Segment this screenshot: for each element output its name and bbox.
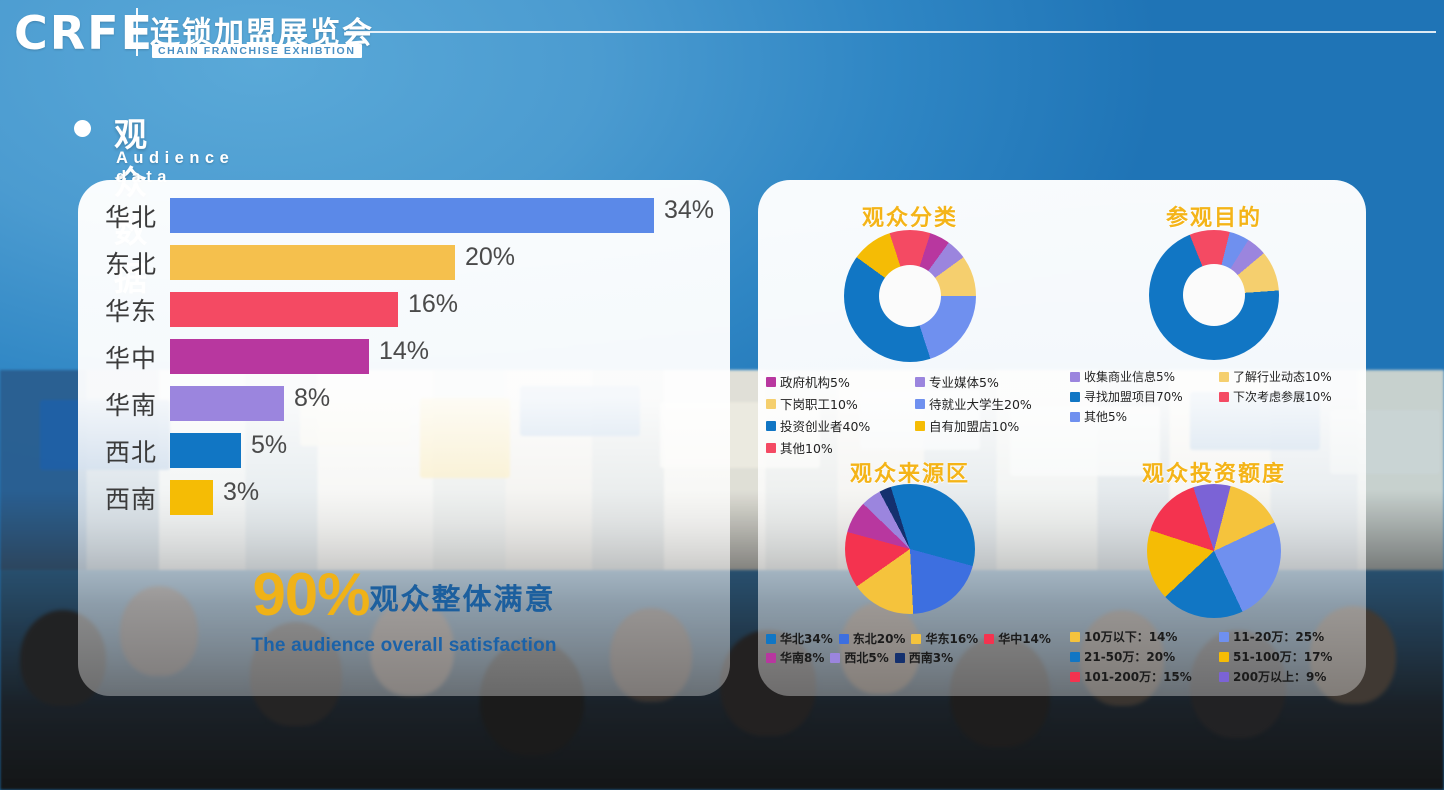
logo-divider [136,8,138,56]
bar-fill [170,480,213,515]
bar-fill [170,292,398,327]
bar-category-label: 华东 [92,292,170,328]
legend-label: 待就业大学生20% [929,394,1032,413]
bar-value-label: 16% [408,290,458,319]
donut-hole [879,265,941,327]
satisfaction-line: 90%观众整体满意 [78,560,730,629]
donut-ring-wrap [1147,484,1281,618]
legend-swatch-icon [984,634,994,644]
legend-label: 了解行业动态10% [1233,368,1332,385]
legend-item: 专业媒体5% [915,372,1058,391]
legend-swatch-icon [766,653,776,663]
legend-item: 自有加盟店10% [915,416,1058,435]
legend-swatch-icon [895,653,905,663]
legend-swatch-icon [911,634,921,644]
legend-item: 华中14% [984,630,1051,647]
legend-swatch-icon [1070,392,1080,402]
legend-item: 华南8% [766,649,824,666]
bar-category-label: 西北 [92,433,170,469]
bar-category-label: 华中 [92,339,170,375]
bar-category-label: 东北 [92,245,170,281]
donut-hole [1183,264,1245,326]
legend-label: 华南8% [780,649,824,666]
legend-label: 专业媒体5% [929,372,999,391]
legend-label: 200万以上：9% [1233,668,1326,685]
bar-value-label: 14% [379,337,429,366]
legend-item: 华北34% [766,630,833,647]
legend-label: 收集商业信息5% [1084,368,1175,385]
donut-legend: 10万以下：14%11-20万：25%21-50万：20%51-100万：17%… [1070,628,1362,685]
donut-legend: 华北34%东北20%华东16%华中14%华南8%西北5%西南3% [766,630,1058,666]
legend-item: 投资创业者40% [766,416,909,435]
bar-category-label: 西南 [92,480,170,516]
legend-label: 政府机构5% [780,372,850,391]
bar-fill [170,433,241,468]
bar-row: 东北20% [78,241,730,287]
legend-swatch-icon [1219,372,1229,382]
donut-title: 观众分类 [758,200,1062,232]
legend-item: 华东16% [911,630,978,647]
legend-label: 华北34% [780,630,833,647]
donut-chart-audience-category: 观众分类政府机构5%专业媒体5%下岗职工10%待就业大学生20%投资创业者40%… [758,186,1062,444]
legend-swatch-icon [1070,412,1080,422]
bar-value-label: 5% [251,431,287,460]
donut-hole [879,518,941,580]
legend-label: 自有加盟店10% [929,416,1019,435]
donut-hole [1182,519,1246,583]
brand-name-en: CHAIN FRANCHISE EXHIBTION [152,44,362,58]
bar-row: 华东16% [78,288,730,334]
bar-category-label: 华南 [92,386,170,422]
donut-ring-wrap [844,230,976,362]
legend-item: 21-50万：20% [1070,648,1213,665]
legend-item: 收集商业信息5% [1070,368,1213,385]
audience-region-bar-panel: 华北34%东北20%华东16%华中14%华南8%西北5%西南3% 90%观众整体… [78,180,730,696]
legend-item: 101-200万：15% [1070,668,1213,685]
legend-label: 华东16% [925,630,978,647]
satisfaction-percent: 90% [252,561,369,628]
legend-label: 寻找加盟项目70% [1084,388,1183,405]
donut-chart-source-region: 观众来源区华北34%东北20%华东16%华中14%华南8%西北5%西南3% [758,442,1062,696]
donut-title: 参观目的 [1062,200,1366,232]
header-rule [346,31,1436,33]
legend-label: 下次考虑参展10% [1233,388,1332,405]
legend-swatch-icon [1219,672,1229,682]
satisfaction-label-cn: 观众整体满意 [370,582,556,616]
legend-item: 其他5% [1070,408,1213,425]
bar-row: 华南8% [78,382,730,428]
legend-item: 待就业大学生20% [915,394,1058,413]
bar-value-label: 3% [223,478,259,507]
legend-item: 200万以上：9% [1219,668,1362,685]
bar-fill [170,339,369,374]
brand-logo-mark: CRFE [14,6,154,60]
legend-item: 西北5% [830,649,888,666]
legend-swatch-icon [915,399,925,409]
legend-label: 东北20% [853,630,906,647]
legend-swatch-icon [1219,632,1229,642]
legend-swatch-icon [1219,652,1229,662]
legend-swatch-icon [1070,632,1080,642]
bar-row: 西北5% [78,429,730,475]
legend-swatch-icon [766,421,776,431]
bar-value-label: 34% [664,196,714,225]
bar-fill [170,386,284,421]
donut-chart-investment-amount: 观众投资额度10万以下：14%11-20万：25%21-50万：20%51-10… [1062,442,1366,696]
bar-fill [170,245,455,280]
satisfaction-callout: 90%观众整体满意 The audience overall satisfact… [78,560,730,680]
legend-swatch-icon [839,634,849,644]
bar-row: 华中14% [78,335,730,381]
donut-ring-wrap [1149,230,1279,360]
legend-label: 投资创业者40% [780,416,870,435]
donut-ring-wrap [845,484,975,614]
legend-item: 政府机构5% [766,372,909,391]
legend-item: 10万以下：14% [1070,628,1213,645]
legend-label: 10万以下：14% [1084,628,1177,645]
legend-item: 西南3% [895,649,953,666]
bar-category-label: 华北 [92,198,170,234]
legend-swatch-icon [1070,652,1080,662]
legend-label: 西南3% [909,649,953,666]
legend-swatch-icon [1219,392,1229,402]
legend-swatch-icon [1070,372,1080,382]
legend-item: 寻找加盟项目70% [1070,388,1213,405]
legend-label: 21-50万：20% [1084,648,1175,665]
legend-label: 西北5% [844,649,888,666]
legend-label: 其他5% [1084,408,1127,425]
legend-label: 101-200万：15% [1084,668,1192,685]
legend-swatch-icon [915,377,925,387]
legend-item: 下次考虑参展10% [1219,388,1362,405]
legend-label: 51-100万：17% [1233,648,1332,665]
legend-item: 东北20% [839,630,906,647]
legend-swatch-icon [766,399,776,409]
legend-label: 华中14% [998,630,1051,647]
bar-row: 华北34% [78,194,730,240]
legend-swatch-icon [915,421,925,431]
legend-item: 下岗职工10% [766,394,909,413]
bar-row: 西南3% [78,476,730,522]
bar-value-label: 8% [294,384,330,413]
legend-label: 下岗职工10% [780,394,858,413]
audience-donuts-panel: 观众分类政府机构5%专业媒体5%下岗职工10%待就业大学生20%投资创业者40%… [758,180,1366,696]
donut-legend: 收集商业信息5%了解行业动态10%寻找加盟项目70%下次考虑参展10%其他5% [1070,368,1362,425]
page-header: CRFE 连锁加盟展览会 CHAIN FRANCHISE EXHIBTION [0,0,1444,72]
bar-value-label: 20% [465,243,515,272]
donut-chart-visit-purpose: 参观目的收集商业信息5%了解行业动态10%寻找加盟项目70%下次考虑参展10%其… [1062,186,1366,444]
legend-swatch-icon [1070,672,1080,682]
region-bar-chart: 华北34%东北20%华东16%华中14%华南8%西北5%西南3% [78,180,730,540]
legend-item: 了解行业动态10% [1219,368,1362,385]
legend-item: 11-20万：25% [1219,628,1362,645]
satisfaction-label-en: The audience overall satisfaction [78,635,730,657]
bar-fill [170,198,654,233]
legend-swatch-icon [830,653,840,663]
legend-swatch-icon [766,634,776,644]
legend-label: 11-20万：25% [1233,628,1324,645]
dot-icon [74,120,91,137]
legend-swatch-icon [766,377,776,387]
legend-item: 51-100万：17% [1219,648,1362,665]
